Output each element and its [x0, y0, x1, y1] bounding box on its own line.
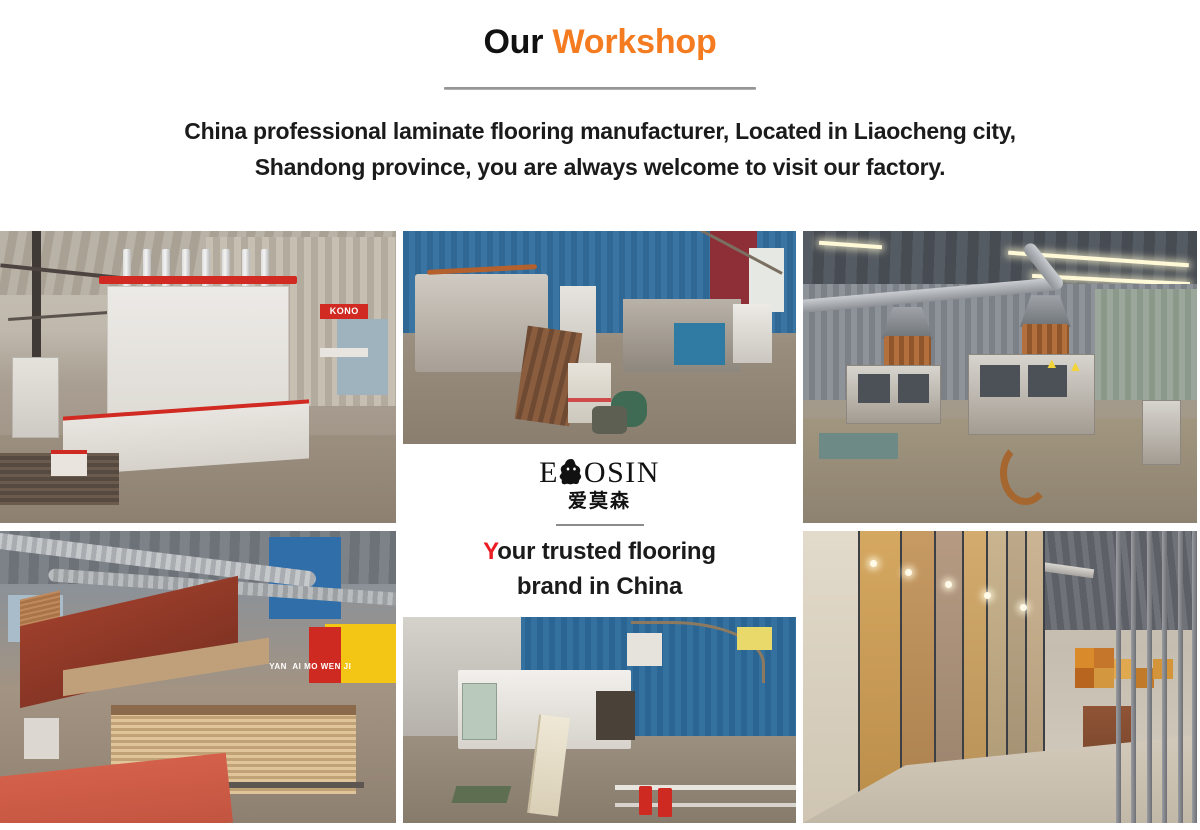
tagline-line-2: brand in China	[483, 570, 716, 605]
logo-letter-right: OSIN	[584, 458, 660, 488]
tagline-accent-letter: Y	[483, 538, 497, 565]
tagline-line-1: our trusted flooring	[497, 538, 716, 565]
machine-brand-label: KONO	[320, 304, 368, 319]
workshop-photo-gallery: KONO YAN AI MO WEN JI	[0, 231, 1200, 823]
brand-logo-chinese: 爱莫森	[568, 492, 631, 513]
subtitle-line-1: China professional laminate flooring man…	[0, 114, 1200, 150]
page-title-accent: Workshop	[553, 23, 717, 61]
workshop-photo-3[interactable]	[803, 231, 1197, 523]
workshop-photo-1[interactable]: KONO	[0, 231, 396, 523]
page-title-prefix: Our	[483, 23, 552, 61]
brand-tagline: Your trusted flooring brand in China	[483, 535, 716, 605]
logo-letter-left: E	[539, 458, 559, 488]
workshop-photo-5[interactable]	[403, 617, 796, 823]
brand-divider	[556, 524, 644, 526]
brand-logo: E OSIN	[539, 458, 660, 488]
page-header: Our Workshop China professional laminate…	[0, 0, 1200, 186]
page-title: Our Workshop	[0, 24, 1200, 61]
gorilla-icon	[558, 458, 585, 488]
title-divider	[444, 87, 756, 90]
gallery-column-right	[803, 231, 1197, 823]
workshop-photo-2[interactable]	[403, 231, 796, 444]
subtitle-line-2: Shandong province, you are always welcom…	[0, 150, 1200, 186]
gallery-column-middle: E OSIN 爱莫森 Your trusted flooring brand i…	[403, 231, 796, 823]
workshop-photo-4[interactable]: YAN AI MO WEN JI	[0, 531, 396, 823]
gallery-column-left: KONO YAN AI MO WEN JI	[0, 231, 396, 823]
page-subtitle: China professional laminate flooring man…	[0, 114, 1200, 185]
brand-card: E OSIN 爱莫森 Your trusted flooring brand i…	[403, 452, 796, 608]
workshop-photo-6[interactable]	[803, 531, 1197, 823]
